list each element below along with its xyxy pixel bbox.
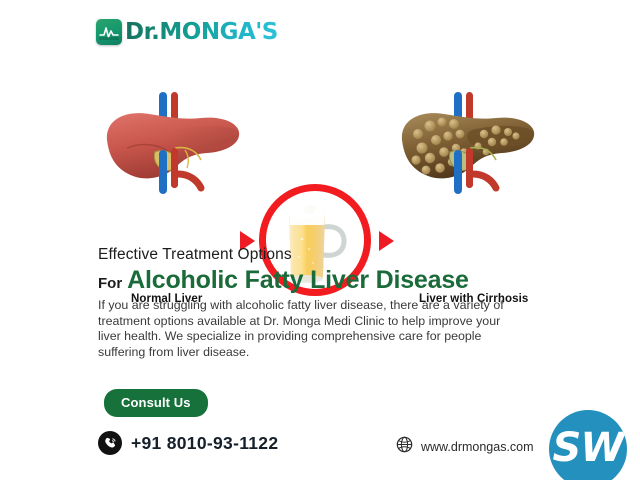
watermark-text: SW bbox=[553, 428, 624, 468]
arrow-right-icon-2 bbox=[379, 231, 394, 251]
globe-icon bbox=[396, 436, 413, 458]
poster-canvas: Dr.MONGA'S bbox=[0, 0, 640, 480]
watermark-badge: SW bbox=[549, 410, 627, 480]
illustration-row: Normal Liver Liver with Cirrhosis bbox=[0, 88, 640, 218]
website-url: www.drmongas.com bbox=[421, 440, 534, 454]
headline-prefix: For bbox=[98, 275, 122, 292]
website-contact[interactable]: www.drmongas.com bbox=[396, 436, 534, 458]
cirrhosis-liver-illustration bbox=[392, 90, 542, 210]
normal-liver-illustration bbox=[97, 90, 247, 210]
eyebrow-text: Effective Treatment Options bbox=[98, 246, 292, 264]
consult-us-button[interactable]: Consult Us bbox=[104, 389, 208, 417]
body-paragraph: If you are struggling with alcoholic fat… bbox=[98, 298, 522, 360]
headline-main: Alcoholic Fatty Liver Disease bbox=[127, 266, 469, 294]
brand-logo[interactable]: Dr.MONGA'S bbox=[96, 16, 278, 48]
page-title: ForAlcoholic Fatty Liver Disease bbox=[98, 268, 469, 293]
brand-wordmark: Dr.MONGA'S bbox=[125, 21, 278, 44]
phone-contact[interactable]: +91 8010-93-1122 bbox=[98, 431, 278, 455]
phone-handset-icon bbox=[98, 431, 122, 455]
ecg-heartbeat-icon bbox=[96, 19, 122, 45]
phone-number: +91 8010-93-1122 bbox=[131, 433, 278, 454]
